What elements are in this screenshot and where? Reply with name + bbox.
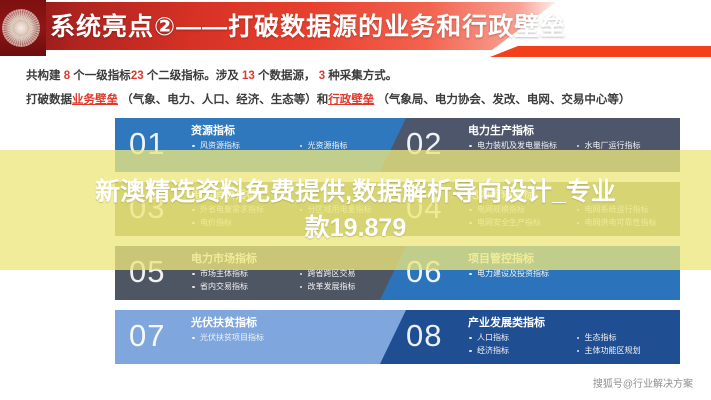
card-bullet-item: 经济指标 — [468, 344, 576, 357]
intro-line-1: 共构建 8 个一级指标23 个二级指标。涉及 13 个数据源， 3 种采集方式。 — [26, 66, 686, 86]
source-attribution: 搜狐号@行业解决方案 — [593, 375, 693, 390]
intro-text: （气象、电力、人口、经济、生态等）和 — [118, 94, 328, 106]
card-number: 07 — [129, 316, 165, 356]
card-title: 产业发展类指标 — [468, 314, 545, 330]
intro-text: 打破数据 — [26, 94, 72, 106]
card-title: 光伏扶贫指标 — [191, 314, 257, 330]
header-orange-bar — [551, 46, 711, 57]
intro-text: 种采集方式。 — [325, 70, 397, 82]
card-bullet-item: 主体功能区规划 — [576, 344, 684, 357]
card-bullet-item: 人口指标 — [468, 331, 576, 344]
watermark-text: 新澳精选资料免费提供,数据解析导向设计_专业 款19.879 — [0, 150, 711, 270]
intro-line-2: 打破数据业务壁垒 （气象、电力、人口、经济、生态等）和行政壁垒 （气象局、电力协… — [26, 90, 686, 110]
intro-highlight: 13 — [242, 70, 255, 82]
intro-text: （气象局、电力协会、发改、电网、交易中心等） — [374, 94, 630, 106]
intro-highlight: 行政壁垒 — [328, 94, 374, 106]
intro-highlight: 23 — [131, 70, 144, 82]
card-bullet-list: 人口指标生态指标经济指标主体功能区规划 — [468, 331, 683, 357]
watermark-line-1: 新澳精选资料免费提供,数据解析导向设计_专业 — [95, 174, 616, 210]
card-bullet-item: 光伏扶贫项目指标 — [191, 331, 406, 344]
indicator-card-row: 07光伏扶贫指标光伏扶贫项目指标08产业发展类指标人口指标生态指标经济指标主体功… — [0, 310, 711, 368]
slide-canvas: 系统亮点②——打破数据源的业务和行政壁垒 共构建 8 个一级指标23 个二级指标… — [0, 0, 711, 400]
card-bullet-list: 光伏扶贫项目指标 — [191, 331, 406, 344]
indicator-card-07[interactable]: 07光伏扶贫指标光伏扶贫项目指标 — [115, 310, 415, 364]
intro-text: 共构建 — [26, 70, 64, 82]
header-banner: 系统亮点②——打破数据源的业务和行政壁垒 — [0, 0, 711, 56]
card-bullet-item: 生态指标 — [576, 331, 684, 344]
card-bullet-item: 省内交易指标 — [191, 280, 299, 293]
intro-highlight: 业务壁垒 — [72, 94, 118, 106]
page-title: 系统亮点②——打破数据源的业务和行政壁垒 — [50, 9, 566, 45]
intro-text: 个二级指标。涉及 — [144, 70, 242, 82]
medallion-icon — [2, 9, 40, 47]
indicator-card-08[interactable]: 08产业发展类指标人口指标生态指标经济指标主体功能区规划 — [380, 310, 680, 364]
intro-text: 个数据源， — [255, 70, 319, 82]
intro-text: 个一级指标 — [70, 70, 131, 82]
medallion-core-icon — [13, 20, 29, 36]
card-title: 资源指标 — [191, 122, 235, 138]
card-bullet-list: 市场主体指标跨省跨区交易省内交易指标改革发展指标 — [191, 267, 406, 293]
card-number: 08 — [406, 316, 442, 356]
card-title: 电力生产指标 — [468, 122, 534, 138]
intro-text-block: 共构建 8 个一级指标23 个二级指标。涉及 13 个数据源， 3 种采集方式。… — [26, 66, 686, 110]
watermark-line-2: 款19.879 — [305, 210, 406, 246]
